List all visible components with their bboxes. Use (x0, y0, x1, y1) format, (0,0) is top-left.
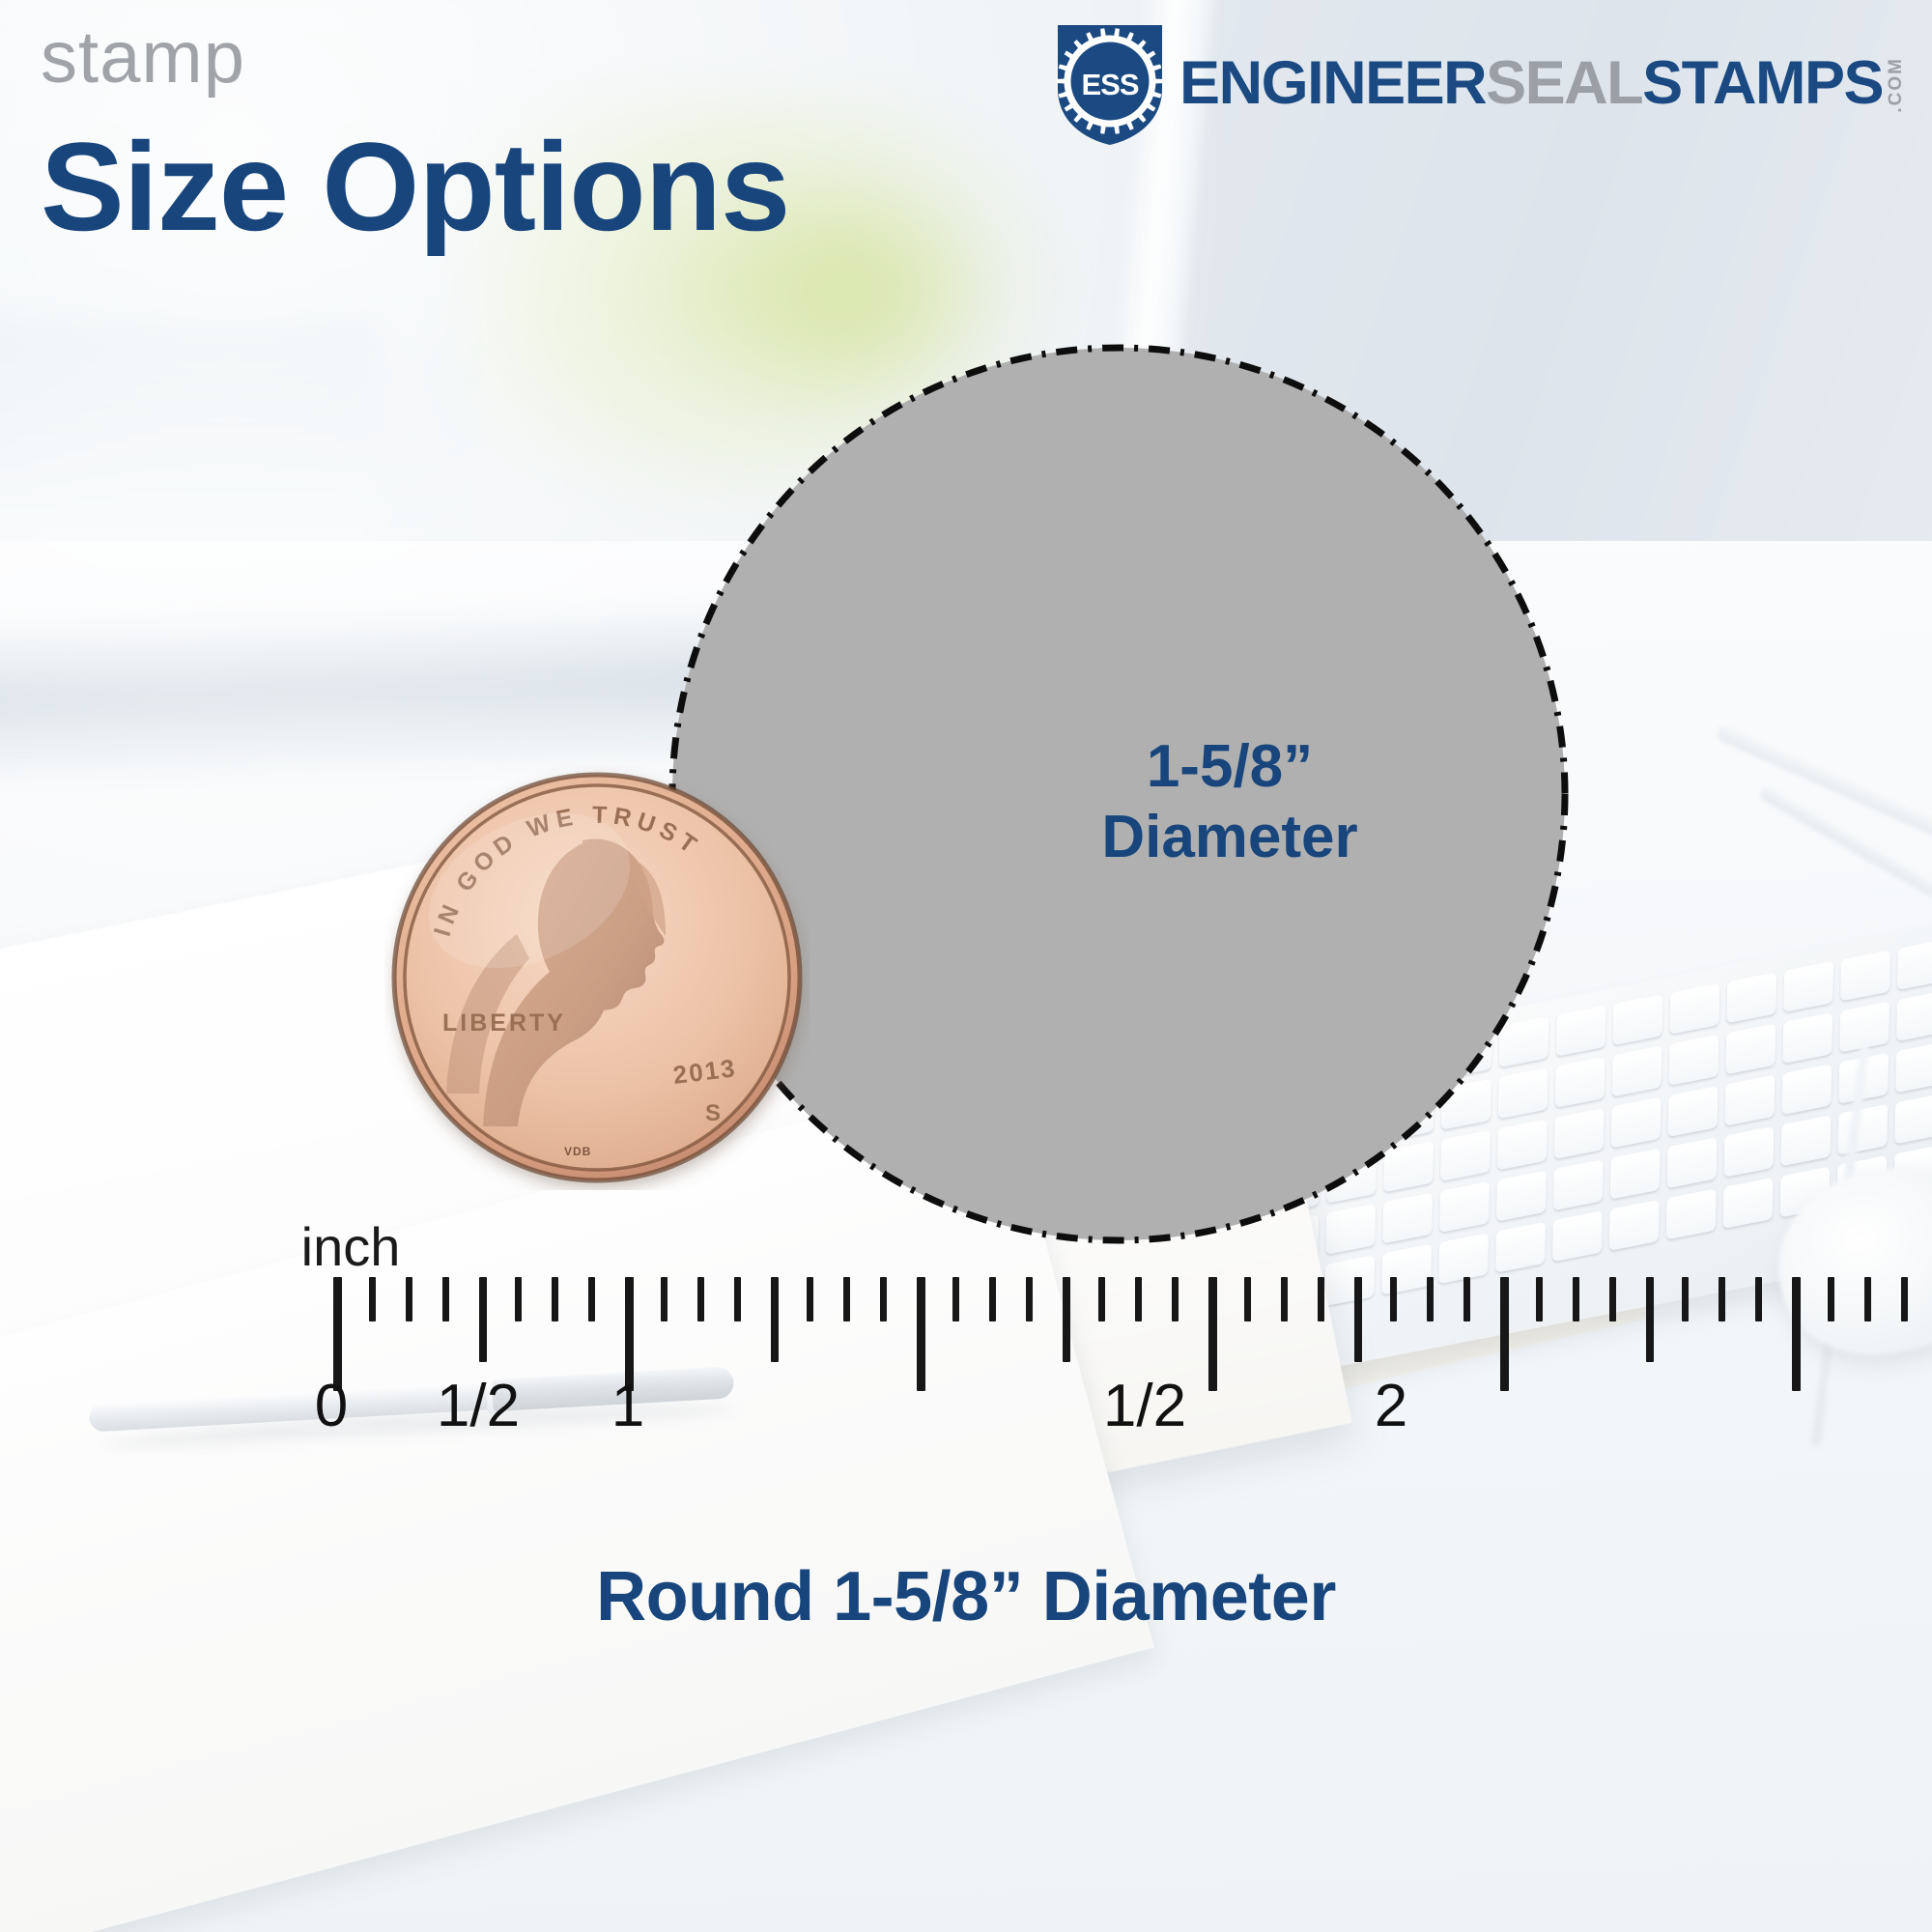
svg-text:ESS: ESS (1082, 68, 1139, 101)
ruler-tick (843, 1277, 850, 1321)
keyboard-key (1724, 1126, 1775, 1178)
ruler-tick (1573, 1277, 1579, 1321)
keyboard-key (1896, 990, 1932, 1041)
keyboard-key (1726, 972, 1776, 1023)
page-title: Size Options (41, 124, 789, 249)
ruler-tick (1901, 1277, 1908, 1321)
keyboard-key (1783, 961, 1833, 1012)
logo-word-engineer: ENGINEER (1179, 53, 1486, 114)
keyboard-key (1837, 1104, 1888, 1155)
ruler-label: 2 (1375, 1372, 1407, 1440)
ruler-tick (1135, 1277, 1142, 1321)
ruler-tick (369, 1277, 376, 1321)
ruler-tick (552, 1277, 558, 1321)
ruler-tick (989, 1277, 996, 1321)
ruler-tick (697, 1277, 704, 1321)
ruler-label: 1/2 (437, 1372, 520, 1440)
ruler-tick (1063, 1277, 1070, 1362)
size-caption: Round 1-5/8” Diameter (0, 1557, 1932, 1636)
ruler-tick (479, 1277, 487, 1362)
ruler-tick (1609, 1277, 1616, 1321)
ruler-tick (1755, 1277, 1762, 1321)
ruler-tick (1318, 1277, 1324, 1321)
ruler-tick (1719, 1277, 1725, 1321)
ruler-unit-label: inch (301, 1215, 401, 1278)
keyboard-key (1669, 1035, 1719, 1086)
keyboard-key (1725, 1024, 1776, 1075)
logo-word-stamps: STAMPS (1642, 53, 1883, 114)
keyboard-key (1723, 1178, 1774, 1229)
ruler-tick (406, 1277, 412, 1321)
keyboard-key (1895, 1041, 1932, 1093)
keyboard-key (1781, 1064, 1832, 1115)
keyboard-key (1668, 1086, 1719, 1137)
ruler-tick (734, 1277, 741, 1321)
keyboard-key (1666, 1189, 1717, 1240)
keyboard-key (1780, 1115, 1831, 1166)
ess-shield-gear-icon: ESS (1046, 19, 1174, 147)
size-circle-line1: 1-5/8” (1147, 731, 1313, 802)
ruler-label: 0 (315, 1372, 348, 1440)
ruler-tick (1792, 1277, 1801, 1391)
logo-word-com: .COM (1887, 57, 1905, 113)
size-circle-line2: Diameter (1101, 802, 1357, 872)
ruler-tick (1172, 1277, 1179, 1321)
ruler-tick (515, 1277, 522, 1321)
ruler-tick (442, 1277, 449, 1321)
ruler-tick (880, 1277, 887, 1321)
svg-text:LIBERTY: LIBERTY (442, 1009, 566, 1037)
ruler-tick (661, 1277, 668, 1321)
keyboard-key (1897, 939, 1932, 990)
ruler-tick (1427, 1277, 1434, 1321)
ruler-tick (1390, 1277, 1397, 1321)
ruler-tick (917, 1277, 925, 1391)
ruler-tick (1281, 1277, 1288, 1321)
ruler-label: 1/2 (1103, 1372, 1186, 1440)
ruler-tick (771, 1277, 779, 1362)
inch-ruler: inch 01/211/22 (0, 1236, 1932, 1488)
logo-word-seal: SEAL (1486, 53, 1642, 114)
svg-text:VDB: VDB (564, 1145, 591, 1158)
ruler-tick (1098, 1277, 1105, 1321)
ruler-tick (1354, 1277, 1362, 1362)
keyboard-key (1669, 983, 1719, 1035)
penny-coin: IN GOD WE TRUST LIBERTY 2013 S VDB (384, 765, 810, 1190)
ruler-tick (1536, 1277, 1543, 1321)
ruler-tick (952, 1277, 959, 1321)
brand-word: stamp (41, 21, 245, 95)
ruler-tick (588, 1277, 595, 1321)
ruler-tick (1864, 1277, 1871, 1321)
ess-wordmark: ENGINEER SEAL STAMPS .COM (1179, 53, 1905, 114)
ruler-tick (1208, 1277, 1217, 1391)
keyboard-key (1840, 951, 1890, 1002)
keyboard-key (1613, 994, 1663, 1045)
keyboard-key (1612, 1045, 1662, 1096)
keyboard-key (1611, 1097, 1662, 1149)
ruler-tick (1463, 1277, 1470, 1321)
ruler-tick (1026, 1277, 1033, 1321)
keyboard-key (1782, 1012, 1833, 1064)
keyboard-key (1725, 1075, 1776, 1126)
background-window-blur (0, 319, 377, 560)
ruler-tick (1646, 1277, 1654, 1362)
keyboard-key (1610, 1149, 1661, 1200)
ruler-tick (1500, 1277, 1509, 1391)
svg-text:S: S (705, 1100, 721, 1126)
ess-logo[interactable]: ESS ENGINEER SEAL STAMPS .COM (1046, 19, 1905, 147)
size-options-infographic: stamp Size Options ESS ENGINEER SEAL STA… (0, 0, 1932, 1932)
ruler-tick (1682, 1277, 1689, 1321)
ruler-tick (1244, 1277, 1251, 1321)
ruler-tick (807, 1277, 813, 1321)
keyboard-key (1667, 1137, 1718, 1188)
ruler-tick (1828, 1277, 1834, 1321)
ruler-label: 1 (611, 1372, 644, 1440)
keyboard-key (1894, 1094, 1932, 1145)
